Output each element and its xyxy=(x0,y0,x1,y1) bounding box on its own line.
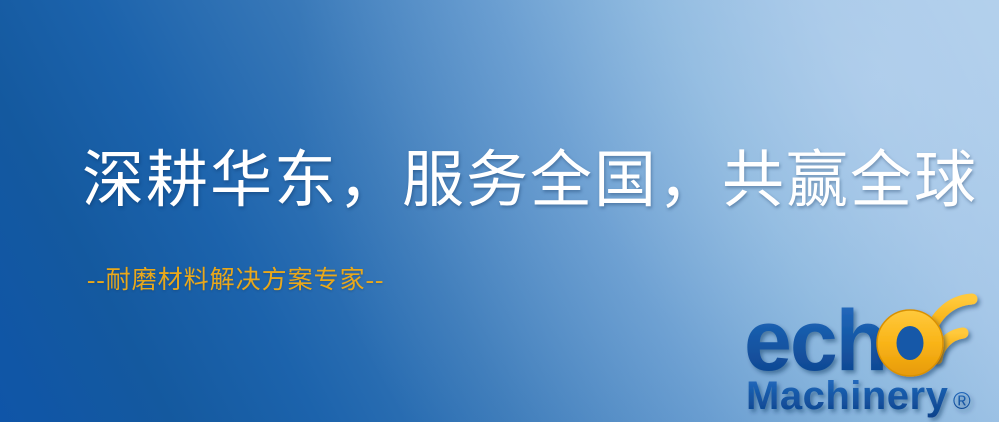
echo-machinery-logo[interactable]: ech Machinery ® echo Machinery ® xyxy=(744,296,999,422)
logo-wordmark-o xyxy=(877,310,943,376)
logo-registered-trademark-icon: ® xyxy=(953,388,971,415)
banner-subtitle: --耐磨材料解决方案专家-- xyxy=(87,268,384,293)
logo-subtext-machinery: Machinery xyxy=(746,374,949,418)
hero-banner: 深耕华东，服务全国，共赢全球 --耐磨材料解决方案专家-- xyxy=(0,0,999,422)
banner-headline: 深耕华东，服务全国，共赢全球 xyxy=(82,150,978,212)
